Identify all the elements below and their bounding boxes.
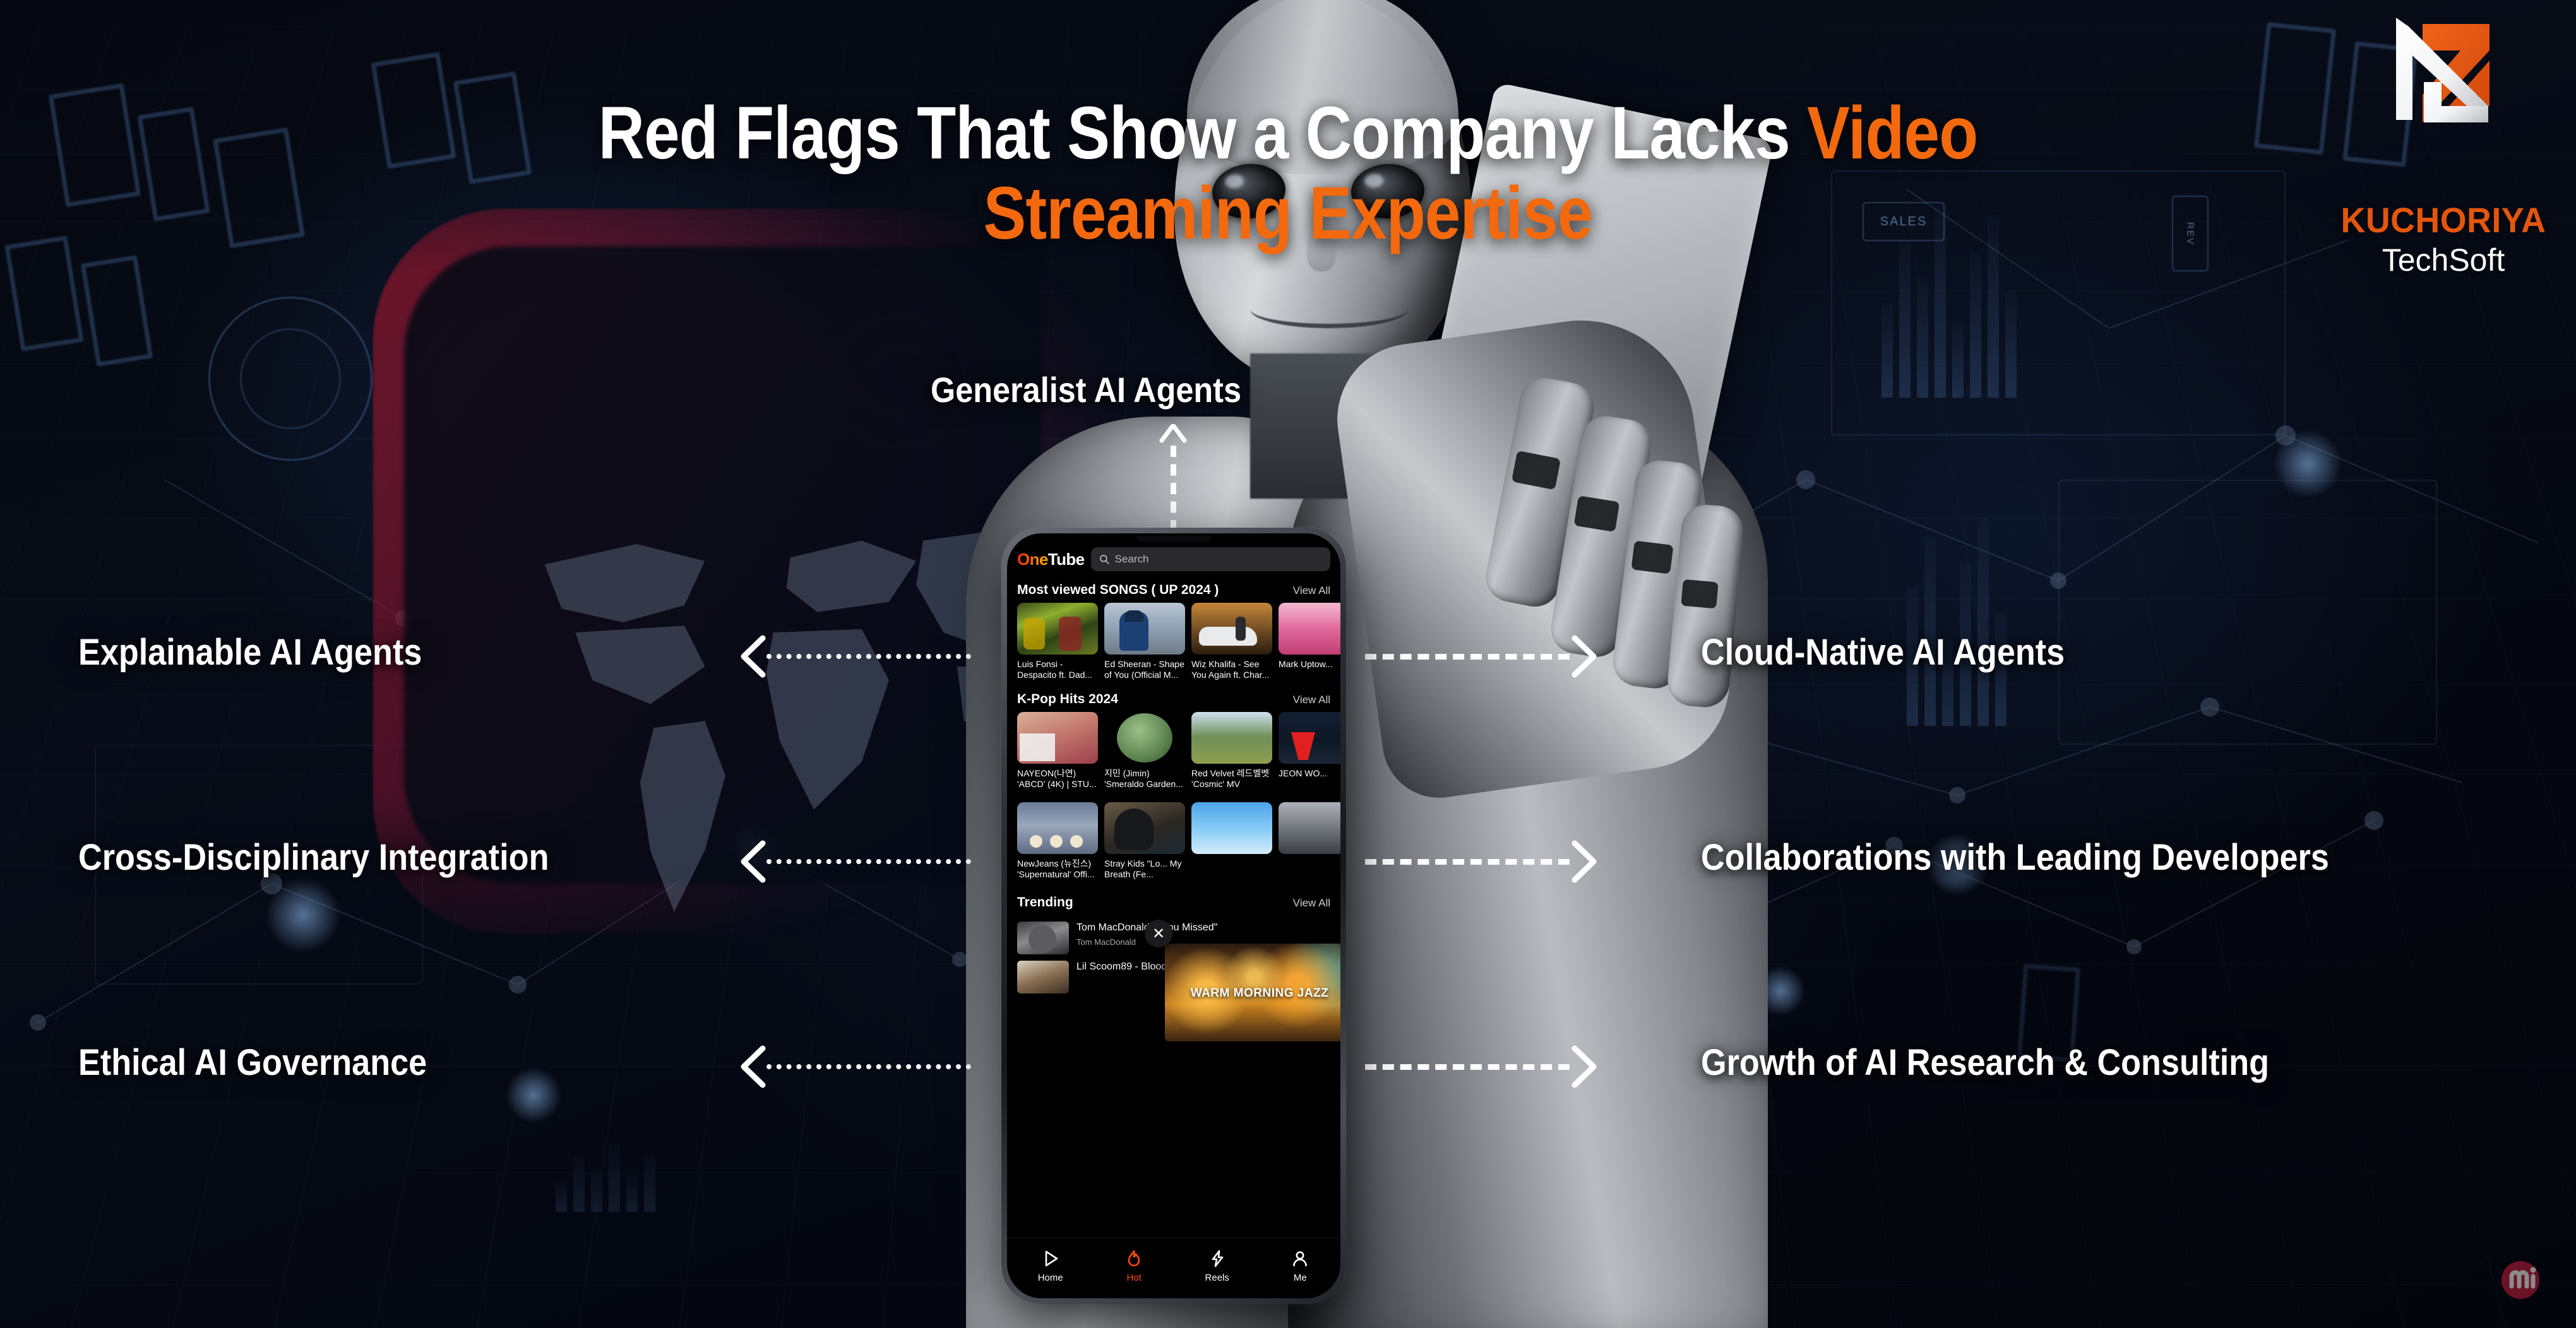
bg-glow (505, 1067, 562, 1123)
video-thumbnail (1279, 712, 1340, 764)
arrow-up-center (1159, 424, 1188, 531)
video-card[interactable] (1279, 802, 1340, 881)
video-title: Red Velvet 레드벨벳 'Cosmic' MV (1191, 768, 1272, 791)
phone-screen: OneTube Search Most viewed SONGS ( UP 20… (1007, 533, 1340, 1298)
video-card[interactable]: Stray Kids "Lo... My Breath (Fe... (1104, 802, 1185, 881)
video-thumbnail (1279, 802, 1340, 854)
video-title: Ed Sheeran - Shape of You (Official M... (1104, 659, 1185, 682)
onetube-logo[interactable]: OneTube (1017, 550, 1085, 569)
search-icon (1099, 554, 1110, 565)
mi-watermark-icon (2501, 1257, 2547, 1303)
video-thumbnail (1104, 603, 1185, 655)
infographic-canvas: SALES REV (0, 0, 2576, 1328)
section-header: Most viewed SONGS ( UP 2024 ) View All (1007, 575, 1340, 603)
tab-hot[interactable]: Hot (1124, 1249, 1143, 1283)
video-card[interactable]: JEON WO... (1279, 712, 1340, 791)
trending-thumbnail (1017, 961, 1069, 993)
search-placeholder: Search (1115, 553, 1149, 566)
bg-glow (265, 877, 341, 953)
tab-home-label: Home (1038, 1272, 1063, 1283)
person-icon (1291, 1249, 1309, 1268)
video-title: Wiz Khalifa - See You Again ft. Char... (1191, 659, 1272, 682)
brand-logo[interactable]: KUCHORIYA TechSoft (2330, 11, 2557, 278)
arrow-left-3 (737, 1045, 971, 1089)
trending-title: Tom MacDonald - "You Missed" (1076, 922, 1330, 934)
video-title: 지민 (Jimin) 'Smeraldo Garden... (1104, 768, 1185, 791)
lightning-icon (1208, 1249, 1227, 1268)
title-accent-video: Video (1807, 92, 1977, 175)
video-card[interactable]: NAYEON(나연) 'ABCD' (4K) | STU... (1017, 712, 1098, 791)
arrow-right-3 (1365, 1045, 1599, 1089)
robot-knuckle (1631, 540, 1673, 574)
video-row[interactable]: NewJeans (뉴진스) 'Supernatural' Offi... St… (1007, 802, 1340, 881)
video-title: JEON WO... (1279, 768, 1340, 791)
robot-knuckle (1681, 579, 1718, 609)
label-collaborations-leading-developers: Collaborations with Leading Developers (1701, 836, 2329, 879)
video-card[interactable]: 지민 (Jimin) 'Smeraldo Garden... (1104, 712, 1185, 791)
video-card[interactable]: Wiz Khalifa - See You Again ft. Char... (1191, 603, 1272, 682)
ad-close-label: ✕ (1152, 925, 1165, 943)
video-row[interactable]: NAYEON(나연) 'ABCD' (4K) | STU... 지민 (Jimi… (1007, 712, 1340, 791)
tab-hot-label: Hot (1126, 1272, 1141, 1283)
video-thumbnail (1017, 802, 1098, 854)
arrow-left-2 (737, 839, 971, 884)
video-title (1191, 858, 1272, 881)
tab-reels[interactable]: Reels (1205, 1249, 1229, 1283)
video-title: Mark Uptow... (1279, 659, 1340, 682)
label-explainable-ai-agents: Explainable AI Agents (78, 631, 422, 673)
title-accent-streaming: Streaming Expertise (983, 172, 1592, 255)
section-header: Trending View All (1007, 881, 1340, 915)
video-card[interactable]: NewJeans (뉴진스) 'Supernatural' Offi... (1017, 802, 1098, 881)
phone-mockup: OneTube Search Most viewed SONGS ( UP 20… (1001, 528, 1346, 1304)
video-card[interactable]: Red Velvet 레드벨벳 'Cosmic' MV (1191, 712, 1272, 791)
video-card[interactable]: Luis Fonsi - Despacito ft. Dad... (1017, 603, 1098, 682)
video-card[interactable]: Ed Sheeran - Shape of You (Official M... (1104, 603, 1185, 682)
label-generalist-ai-agents: Generalist AI Agents (881, 369, 1291, 410)
trending-thumbnail (1017, 922, 1069, 954)
brand-name: KUCHORIYA (2334, 199, 2553, 240)
video-thumbnail (1191, 603, 1272, 655)
onetube-logo-one: One (1017, 550, 1048, 569)
robot-knuckle (1574, 495, 1620, 532)
label-cross-disciplinary-integration: Cross-Disciplinary Integration (78, 836, 549, 879)
video-thumbnail (1104, 712, 1185, 764)
tab-me[interactable]: Me (1291, 1249, 1309, 1283)
robot-mouth (1250, 290, 1408, 328)
phone-notch (1136, 536, 1212, 542)
video-thumbnail (1017, 603, 1098, 655)
tab-me-label: Me (1294, 1272, 1307, 1283)
video-title (1279, 858, 1340, 881)
flame-icon (1124, 1249, 1143, 1268)
arrow-right-2 (1365, 839, 1599, 884)
video-title: NAYEON(나연) 'ABCD' (4K) | STU... (1017, 768, 1098, 791)
trending-text: Tom MacDonald - "You Missed" Tom MacDona… (1076, 922, 1330, 947)
search-input[interactable]: Search (1091, 547, 1330, 571)
video-thumbnail (1279, 603, 1340, 655)
ad-text: WARM MORNING JAZZ (1165, 987, 1340, 1000)
video-thumbnail (1191, 802, 1272, 854)
title-line1: Red Flags That Show a Company Lacks (599, 92, 1808, 175)
view-all-link[interactable]: View All (1293, 897, 1330, 910)
ad-banner[interactable]: WARM MORNING JAZZ (1165, 944, 1340, 1041)
arrow-left-1 (737, 634, 971, 679)
tab-reels-label: Reels (1205, 1272, 1229, 1283)
play-icon (1041, 1249, 1060, 1268)
video-title: Stray Kids "Lo... My Breath (Fe... (1104, 858, 1185, 881)
label-ethical-ai-governance: Ethical AI Governance (78, 1041, 427, 1084)
video-card[interactable] (1191, 802, 1272, 881)
tab-home[interactable]: Home (1038, 1249, 1063, 1283)
video-title: Luis Fonsi - Despacito ft. Dad... (1017, 659, 1098, 682)
video-thumbnail (1191, 712, 1272, 764)
onetube-logo-tube: Tube (1048, 550, 1085, 569)
section-title: K-Pop Hits 2024 (1017, 692, 1118, 707)
video-thumbnail (1017, 712, 1098, 764)
kuchoriya-k-logo-icon (2371, 11, 2516, 194)
section-title: Most viewed SONGS ( UP 2024 ) (1017, 583, 1219, 598)
view-all-link[interactable]: View All (1293, 584, 1330, 597)
bg-glow (2273, 429, 2342, 499)
bottom-tab-bar: Home Hot Reels Me (1007, 1238, 1340, 1298)
video-card[interactable]: Mark Uptow... (1279, 603, 1340, 682)
label-growth-ai-research-consulting: Growth of AI Research & Consulting (1701, 1041, 2269, 1084)
arrow-right-1 (1365, 634, 1599, 679)
view-all-link[interactable]: View All (1293, 694, 1330, 706)
section-title: Trending (1017, 895, 1073, 910)
label-cloud-native-ai-agents: Cloud-Native AI Agents (1701, 631, 2065, 673)
ad-close-icon[interactable]: ✕ (1145, 920, 1172, 947)
video-title: NewJeans (뉴진스) 'Supernatural' Offi... (1017, 858, 1098, 881)
video-thumbnail (1104, 802, 1185, 854)
brand-subtitle: TechSoft (2330, 242, 2557, 278)
page-title: Red Flags That Show a Company Lacks Vide… (181, 93, 2396, 254)
video-row[interactable]: Luis Fonsi - Despacito ft. Dad... Ed She… (1007, 603, 1340, 682)
section-header: K-Pop Hits 2024 View All (1007, 682, 1340, 712)
